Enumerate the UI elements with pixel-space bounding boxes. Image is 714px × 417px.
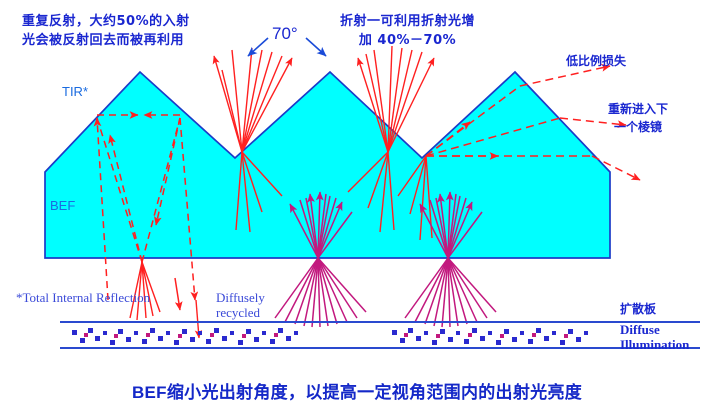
diffuser-plate	[60, 322, 700, 348]
angle-label-70deg: 70°	[272, 24, 298, 44]
diffuser-plate-label-cn: 扩散板	[620, 300, 656, 318]
tir-label: TIR*	[62, 84, 88, 99]
diffuse-illumination-label: Diffuse Illumination	[620, 322, 689, 352]
bef-label: BEF	[50, 198, 75, 213]
annotation-reenter: 重新进入下 一个棱镜	[608, 100, 668, 136]
diffuser-particles	[72, 328, 588, 345]
tir-footnote: *Total Internal Reflection	[16, 290, 150, 305]
annotation-refraction: 折射一可利用折射光增 加 40%－70%	[340, 12, 475, 50]
page-caption: BEF缩小光出射角度，以提高一定视角范围内的出射光亮度	[0, 378, 714, 403]
bef-film-body	[45, 72, 610, 258]
diffusely-recycled-label: Diffusely recycled	[216, 290, 265, 320]
caption-prefix: BEF	[132, 383, 167, 402]
annotation-recycling: 重复反射，大约50%的入射 光会被反射回去而被再利用	[22, 12, 190, 50]
caption-rest: 缩小光出射角度，以提高一定视角范围内的出射光亮度	[167, 383, 582, 403]
annotation-low-loss: 低比例损失	[566, 52, 626, 70]
incident-down-ray	[175, 278, 180, 310]
